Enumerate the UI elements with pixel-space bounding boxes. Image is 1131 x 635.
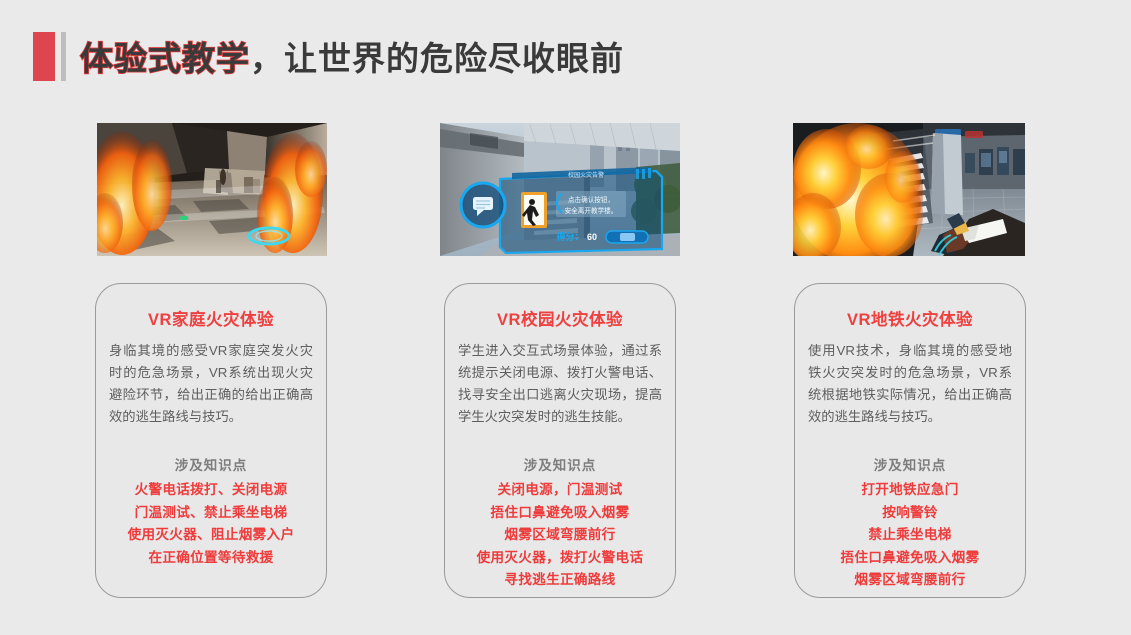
panel-title-text: 校园火灾告警: [568, 171, 604, 179]
list-item: 在正确位置等待救援: [96, 547, 326, 570]
knowledge-points-heading: 涉及知识点: [445, 454, 675, 474]
knowledge-points-list: 关闭电源，门温测试 捂住口鼻避免吸入烟雾 烟雾区域弯腰前行 使用灭火器，拨打火警…: [445, 479, 675, 592]
chat-bubble-icon: [461, 183, 505, 227]
thumbnail-vr-school-fire: 校园火灾告警: [440, 123, 680, 256]
thumbnail-vr-home-fire: [97, 123, 327, 256]
card-title: VR地铁火灾体验: [795, 306, 1025, 330]
thumbnail-vr-subway-fire: [793, 123, 1025, 256]
panel-message-line2: 安全离开教学楼。: [565, 206, 618, 215]
list-item: 使用灭火器、阻止烟雾入户: [96, 524, 326, 547]
vr-subway-fire-illustration: [793, 123, 1025, 256]
vr-school-fire-illustration: 校园火灾告警: [440, 123, 680, 256]
panel-message-line1: 点击确认按钮，: [568, 195, 614, 204]
list-item: 按响警铃: [795, 502, 1025, 525]
list-item: 捂住口鼻避免吸入烟雾: [445, 502, 675, 525]
card-vr-subway-fire[interactable]: VR地铁火灾体验 使用VR技术，身临其境的感受地铁火灾突发时的危急场景，VR系统…: [794, 283, 1026, 598]
score-label-text: 得分：: [555, 231, 583, 242]
emergency-exit-sign-icon: [521, 192, 547, 228]
list-item: 烟雾区域弯腰前行: [795, 569, 1025, 592]
card-vr-school-fire[interactable]: VR校园火灾体验 学生进入交互式场景体验，通过系统提示关闭电源、拨打火警电话、找…: [444, 283, 676, 598]
knowledge-points-heading: 涉及知识点: [96, 454, 326, 474]
cards-container: VR家庭火灾体验 身临其境的感受VR家庭突发火灾时的危急场景，VR系统出现火灾避…: [0, 0, 1131, 635]
vr-home-fire-illustration: [97, 123, 327, 256]
list-item: 禁止乘坐电梯: [795, 524, 1025, 547]
list-item: 寻找逃生正确路线: [445, 569, 675, 592]
card-description: 身临其境的感受VR家庭突发火灾时的危急场景，VR系统出现火灾避险环节，给出正确的…: [109, 340, 313, 428]
score-value-text: 60: [587, 232, 597, 242]
list-item: 打开地铁应急门: [795, 479, 1025, 502]
list-item: 关闭电源，门温测试: [445, 479, 675, 502]
knowledge-points-section: 涉及知识点 打开地铁应急门 按响警铃 禁止乘坐电梯 捂住口鼻避免吸入烟雾 烟雾区…: [795, 454, 1025, 592]
list-item: 门温测试、禁止乘坐电梯: [96, 502, 326, 525]
list-item: 烟雾区域弯腰前行: [445, 524, 675, 547]
card-title: VR校园火灾体验: [445, 306, 675, 330]
card-description: 使用VR技术，身临其境的感受地铁火灾突发时的危急场景，VR系统根据地铁实际情况，…: [808, 340, 1012, 428]
knowledge-points-list: 火警电话拨打、关闭电源 门温测试、禁止乘坐电梯 使用灭火器、阻止烟雾入户 在正确…: [96, 479, 326, 569]
card-title: VR家庭火灾体验: [96, 306, 326, 330]
card-vr-home-fire[interactable]: VR家庭火灾体验 身临其境的感受VR家庭突发火灾时的危急场景，VR系统出现火灾避…: [95, 283, 327, 598]
card-description: 学生进入交互式场景体验，通过系统提示关闭电源、拨打火警电话、找寻安全出口逃离火灾…: [458, 340, 662, 428]
list-item: 火警电话拨打、关闭电源: [96, 479, 326, 502]
knowledge-points-list: 打开地铁应急门 按响警铃 禁止乘坐电梯 捂住口鼻避免吸入烟雾 烟雾区域弯腰前行: [795, 479, 1025, 592]
knowledge-points-heading: 涉及知识点: [795, 454, 1025, 474]
knowledge-points-section: 涉及知识点 火警电话拨打、关闭电源 门温测试、禁止乘坐电梯 使用灭火器、阻止烟雾…: [96, 454, 326, 569]
list-item: 使用灭火器，拨打火警电话: [445, 547, 675, 570]
list-item: 捂住口鼻避免吸入烟雾: [795, 547, 1025, 570]
knowledge-points-section: 涉及知识点 关闭电源，门温测试 捂住口鼻避免吸入烟雾 烟雾区域弯腰前行 使用灭火…: [445, 454, 675, 592]
